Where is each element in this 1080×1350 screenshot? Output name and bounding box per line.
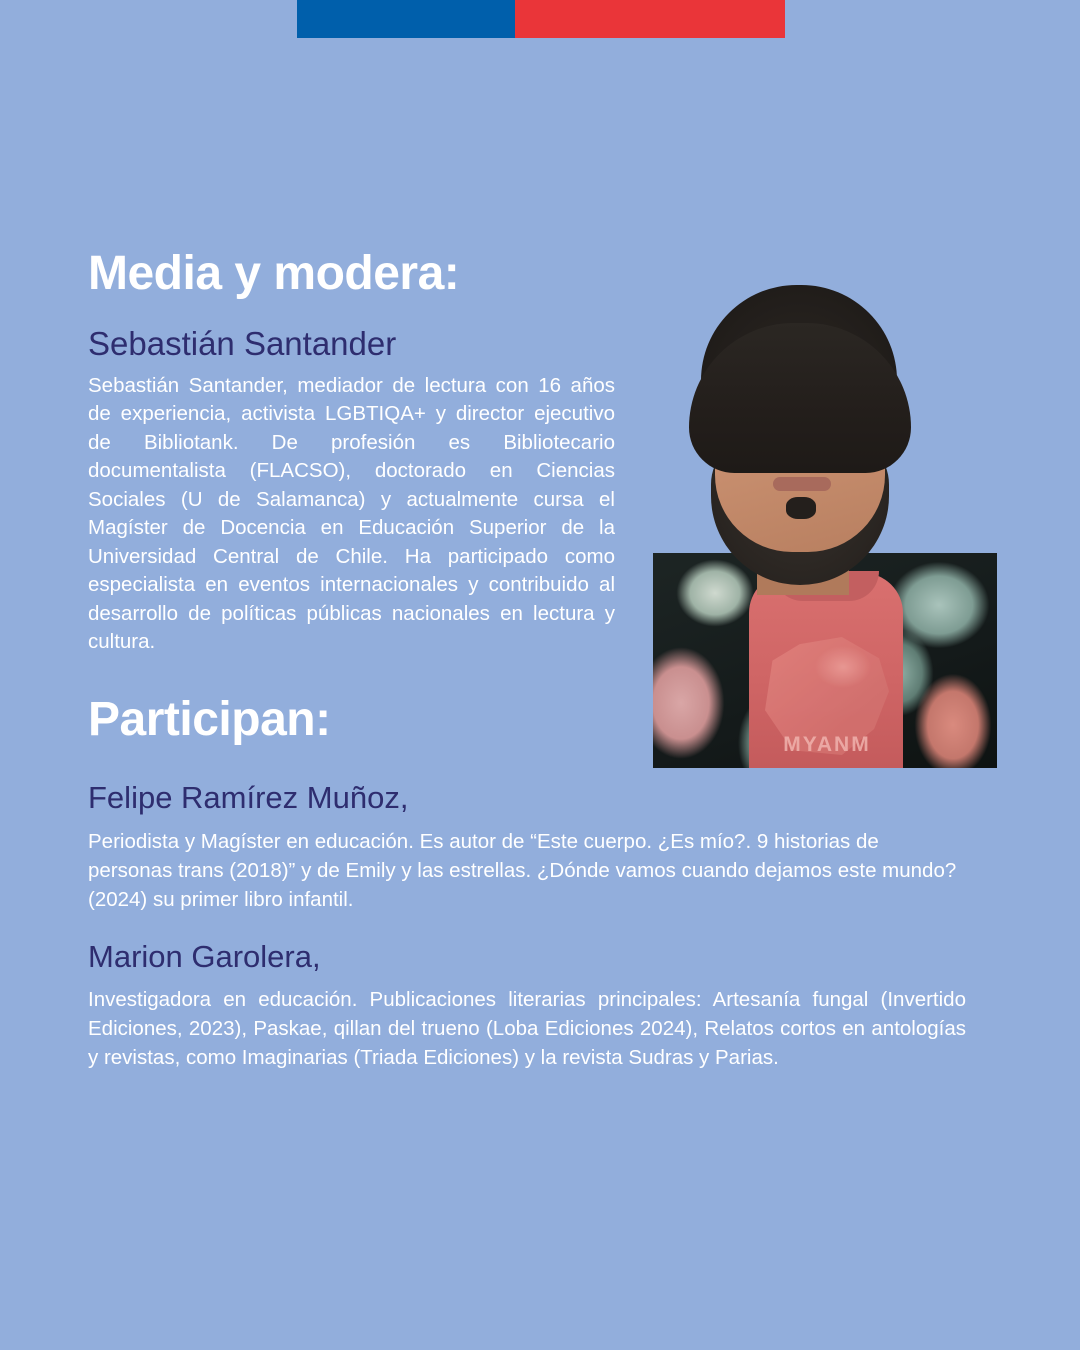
moderator-bio: Sebastián Santander, mediador de lectura… bbox=[88, 372, 615, 657]
chile-flag-bar bbox=[297, 0, 785, 38]
participants-heading: Participan: bbox=[88, 694, 331, 747]
participant-name-2: Marion Garolera, bbox=[88, 938, 321, 975]
tshirt-graphic-text: MYANM bbox=[771, 733, 883, 759]
moderator-heading: Media y modera: bbox=[88, 248, 459, 301]
moderator-name: Sebastián Santander bbox=[88, 325, 396, 363]
portrait-illustration: MYANM bbox=[653, 285, 997, 768]
chin-beard-patch bbox=[786, 497, 816, 519]
mouth bbox=[773, 477, 831, 491]
moderator-photo: MYANM bbox=[653, 285, 997, 768]
participant-name-1: Felipe Ramírez Muñoz, bbox=[88, 779, 408, 816]
flag-red-block bbox=[515, 0, 785, 38]
participant-bio-2: Investigadora en educación. Publicacione… bbox=[88, 985, 966, 1072]
flag-blue-block bbox=[297, 0, 515, 38]
poster-canvas: MYANM Media y modera: Sebastián bbox=[0, 0, 1080, 1350]
participant-bio-1: Periodista y Magíster en educación. Es a… bbox=[88, 827, 966, 914]
